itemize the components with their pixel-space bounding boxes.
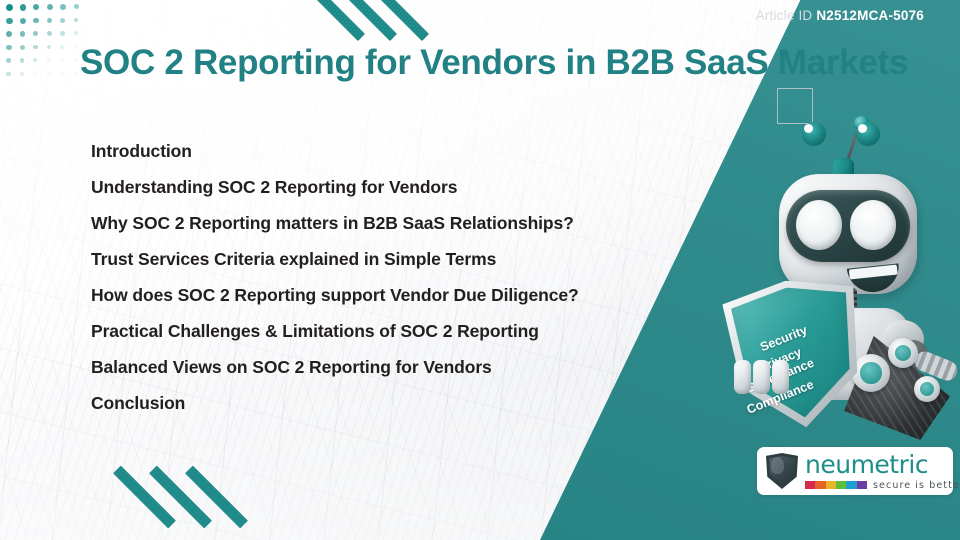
decorative-dot [60,72,64,76]
logo-tagline-row: secure is better [805,480,960,491]
toc-item[interactable]: Introduction [91,134,691,170]
robot-eye-gleam-right [858,124,867,133]
decorative-dot [60,4,66,10]
decorative-dot [74,45,78,49]
logo-shield-icon [766,453,798,489]
diagonal-stripes-top [330,0,450,40]
logo-bar-segment [846,481,856,489]
logo-tagline: secure is better [873,480,960,491]
logo-wordmark: neumetric [805,452,960,477]
decorative-dot [6,31,12,37]
decorative-dot [74,58,78,62]
decorative-dot [6,4,13,11]
decorative-dot [60,18,65,23]
toc-item[interactable]: Why SOC 2 Reporting matters in B2B SaaS … [91,206,691,242]
logo-bar-segment [836,481,846,489]
decorative-dot [74,4,79,9]
robot-roller-3 [914,376,940,402]
decorative-dot [47,72,51,76]
decorative-dot [47,31,52,36]
decorative-dot [6,18,13,25]
decorative-dot [33,58,37,62]
table-of-contents: IntroductionUnderstanding SOC 2 Reportin… [91,134,691,422]
decorative-dot [60,45,64,49]
robot-fingers [734,360,796,394]
article-id-label: Article ID [756,8,813,23]
decorative-dot [33,45,38,50]
logo-text-block: neumetric secure is better [805,452,960,491]
decorative-dot [33,4,39,10]
decorative-dot [74,72,78,76]
robot-eye-right [850,200,896,250]
decorative-dot [33,18,39,24]
dot-grid-decoration [6,4,88,78]
slide-canvas: Article ID N2512MCA-5076 SOC 2 Reporting… [0,0,960,540]
article-id: Article ID N2512MCA-5076 [756,8,924,23]
decorative-dot [20,4,27,11]
decorative-dot [20,72,24,76]
decorative-dot [33,31,38,36]
neumetric-logo[interactable]: neumetric secure is better [757,447,953,495]
toc-item[interactable]: Practical Challenges & Limitations of SO… [91,314,691,350]
robot-eye-gleam-left [804,124,813,133]
decorative-dot [33,72,37,76]
logo-bar-segment [815,481,825,489]
logo-bar-segment [857,481,867,489]
robot-roller-2 [888,338,918,368]
decorative-dot [20,58,25,63]
toc-item[interactable]: Balanced Views on SOC 2 Reporting for Ve… [91,350,691,386]
robot-mascot: Security Privacy Governance Compliance [722,108,960,438]
toc-item[interactable]: Understanding SOC 2 Reporting for Vendor… [91,170,691,206]
decorative-dot [47,45,52,50]
decorative-dot [6,72,11,77]
decorative-dot [60,58,64,62]
logo-bar-segment [805,481,815,489]
robot-eye-left [796,200,842,250]
decorative-dot [20,18,26,24]
robot-shield-words: Security Privacy Governance Compliance [720,272,871,437]
logo-rainbow-bar [805,481,867,489]
toc-item[interactable]: How does SOC 2 Reporting support Vendor … [91,278,691,314]
toc-item[interactable]: Trust Services Criteria explained in Sim… [91,242,691,278]
decorative-dot [20,45,25,50]
decorative-dot [74,18,79,23]
decorative-dot [74,31,78,35]
robot-shield-icon: Security Privacy Governance Compliance [720,272,871,437]
decorative-dot [47,4,53,10]
toc-item[interactable]: Conclusion [91,386,691,422]
decorative-dot [47,58,51,62]
decorative-dot [6,45,12,51]
decorative-dot [20,31,26,37]
decorative-dot [6,58,11,63]
page-title: SOC 2 Reporting for Vendors in B2B SaaS … [80,44,940,83]
diagonal-stripes-bottom [135,462,265,532]
decorative-dot [60,31,65,36]
robot-teeth [849,265,898,280]
article-id-value: N2512MCA-5076 [816,8,924,23]
decorative-dot [47,18,53,24]
logo-bar-segment [826,481,836,489]
